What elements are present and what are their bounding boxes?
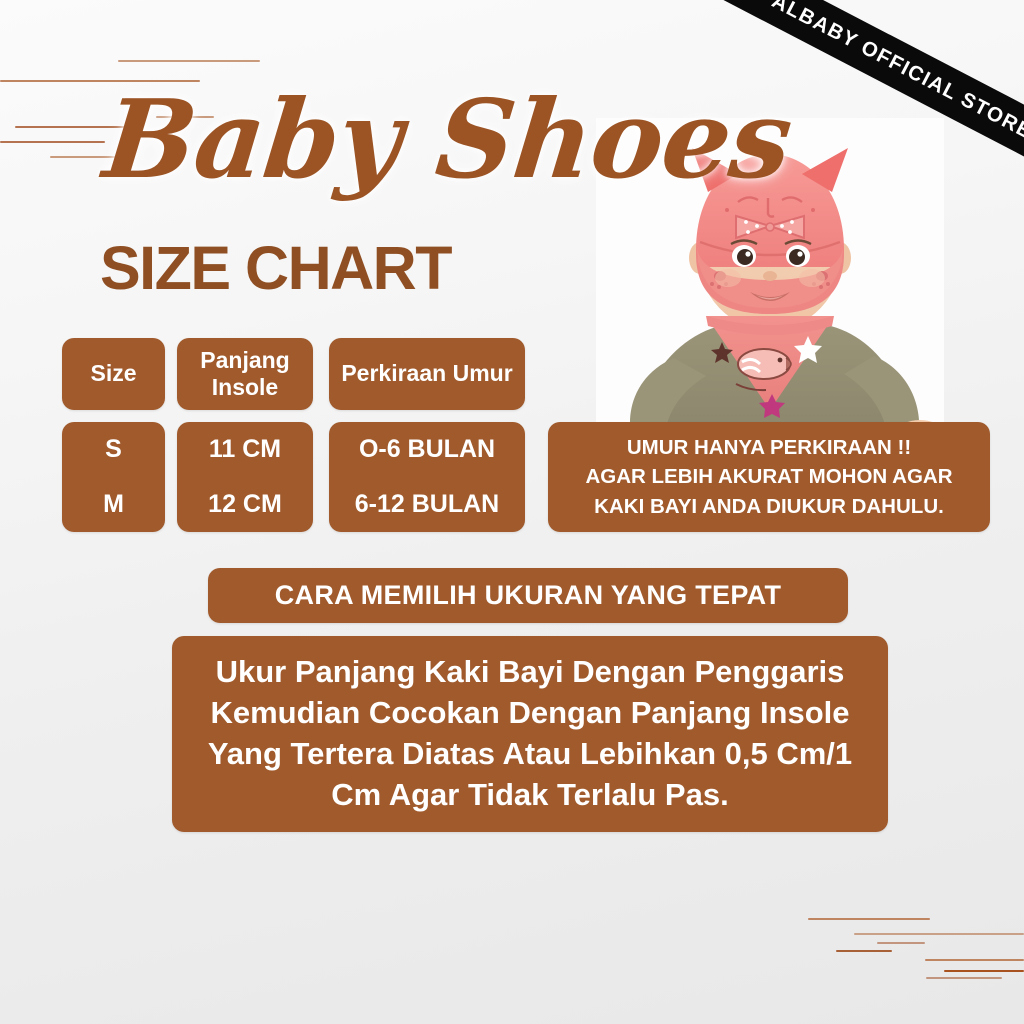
table-row: S <box>62 422 165 477</box>
page-subtitle: SIZE CHART <box>100 238 451 299</box>
table-column-size: S M <box>62 422 165 532</box>
table-column-insole: 11 CM 12 CM <box>177 422 313 532</box>
table-header-age: Perkiraan Umur <box>329 338 525 410</box>
note-line-2: AGAR LEBIH AKURAT MOHON AGAR <box>585 462 952 491</box>
note-line-3: KAKI BAYI ANDA DIUKUR DAHULU. <box>594 492 944 521</box>
table-row: 12 CM <box>177 477 313 532</box>
table-header-size: Size <box>62 338 165 410</box>
table-row: O-6 BULAN <box>329 422 525 477</box>
table-header-insole: Panjang Insole <box>177 338 313 410</box>
table-row: M <box>62 477 165 532</box>
size-chart-poster: ALBABY OFFICIAL STORE Baby Shoes SIZE CH… <box>0 0 1024 1024</box>
table-header-size-label: Size <box>90 360 136 387</box>
table-row: 11 CM <box>177 422 313 477</box>
cell-age-s: O-6 BULAN <box>359 435 495 464</box>
howto-heading: CARA MEMILIH UKURAN YANG TEPAT <box>208 568 848 623</box>
cell-age-m: 6-12 BULAN <box>355 490 499 519</box>
cell-insole-m: 12 CM <box>208 490 282 519</box>
cell-size-s: S <box>105 435 122 464</box>
table-column-age: O-6 BULAN 6-12 BULAN <box>329 422 525 532</box>
cell-size-m: M <box>103 490 124 519</box>
howto-heading-label: CARA MEMILIH UKURAN YANG TEPAT <box>275 580 782 611</box>
page-title-script: Baby Shoes <box>99 86 796 194</box>
decorative-lines-bottom-right <box>780 890 1024 1024</box>
cell-insole-s: 11 CM <box>209 435 281 464</box>
table-row: 6-12 BULAN <box>329 477 525 532</box>
table-header-age-label: Perkiraan Umur <box>341 360 512 387</box>
table-header-insole-label: Panjang Insole <box>177 347 313 401</box>
note-line-1: UMUR HANYA PERKIRAAN !! <box>627 433 911 462</box>
howto-body-text: Ukur Panjang Kaki Bayi Dengan Penggaris … <box>198 652 862 816</box>
howto-body: Ukur Panjang Kaki Bayi Dengan Penggaris … <box>172 636 888 832</box>
age-estimate-note: UMUR HANYA PERKIRAAN !! AGAR LEBIH AKURA… <box>548 422 990 532</box>
